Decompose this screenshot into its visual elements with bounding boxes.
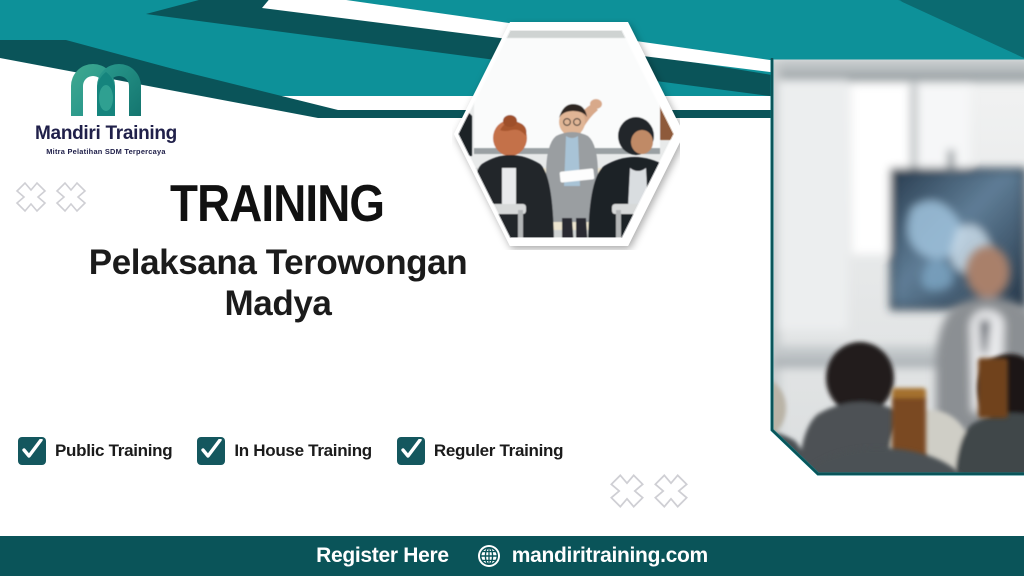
checkbox-checked-icon[interactable] xyxy=(197,437,225,465)
brand-logo: Mandiri Training Mitra Pelatihan SDM Ter… xyxy=(22,58,190,156)
training-type-reguler[interactable]: Reguler Training xyxy=(397,437,563,465)
decor-x-group-left xyxy=(14,180,88,214)
footer-bar: Register Here mandiritraining.com xyxy=(0,536,1024,576)
headline-title: Pelaksana Terowongan Madya xyxy=(40,243,516,324)
training-type-label: Public Training xyxy=(55,441,172,461)
mandiri-m-monogram-icon xyxy=(67,58,145,120)
headline-block: TRAINING xyxy=(170,178,550,230)
brand-tagline: Mitra Pelatihan SDM Terpercaya xyxy=(22,147,190,156)
training-type-label: Reguler Training xyxy=(434,441,563,461)
checkbox-checked-icon[interactable] xyxy=(18,437,46,465)
register-label: Register Here xyxy=(316,544,449,568)
brand-name: Mandiri Training xyxy=(22,124,190,144)
main-seminar-photo xyxy=(742,58,1024,506)
training-type-label: In House Training xyxy=(234,441,372,461)
x-cross-outline-icon xyxy=(54,180,88,214)
headline-title-line1: Pelaksana Terowongan xyxy=(40,243,516,284)
training-type-in-house[interactable]: In House Training xyxy=(197,437,372,465)
headline-title-line2: Madya xyxy=(40,284,516,325)
training-type-public[interactable]: Public Training xyxy=(18,437,172,465)
checkbox-checked-icon[interactable] xyxy=(397,437,425,465)
website-label[interactable]: mandiritraining.com xyxy=(512,544,708,568)
x-cross-outline-icon xyxy=(652,472,690,510)
x-cross-outline-icon xyxy=(14,180,48,214)
poster-canvas: Mandiri Training Mitra Pelatihan SDM Ter… xyxy=(0,0,1024,576)
x-cross-outline-icon xyxy=(608,472,646,510)
decor-x-group-bottom xyxy=(608,472,690,510)
headline-eyebrow: TRAINING xyxy=(170,178,504,230)
globe-icon xyxy=(477,544,501,568)
training-types-list: Public Training In House Training Regule… xyxy=(18,437,563,465)
